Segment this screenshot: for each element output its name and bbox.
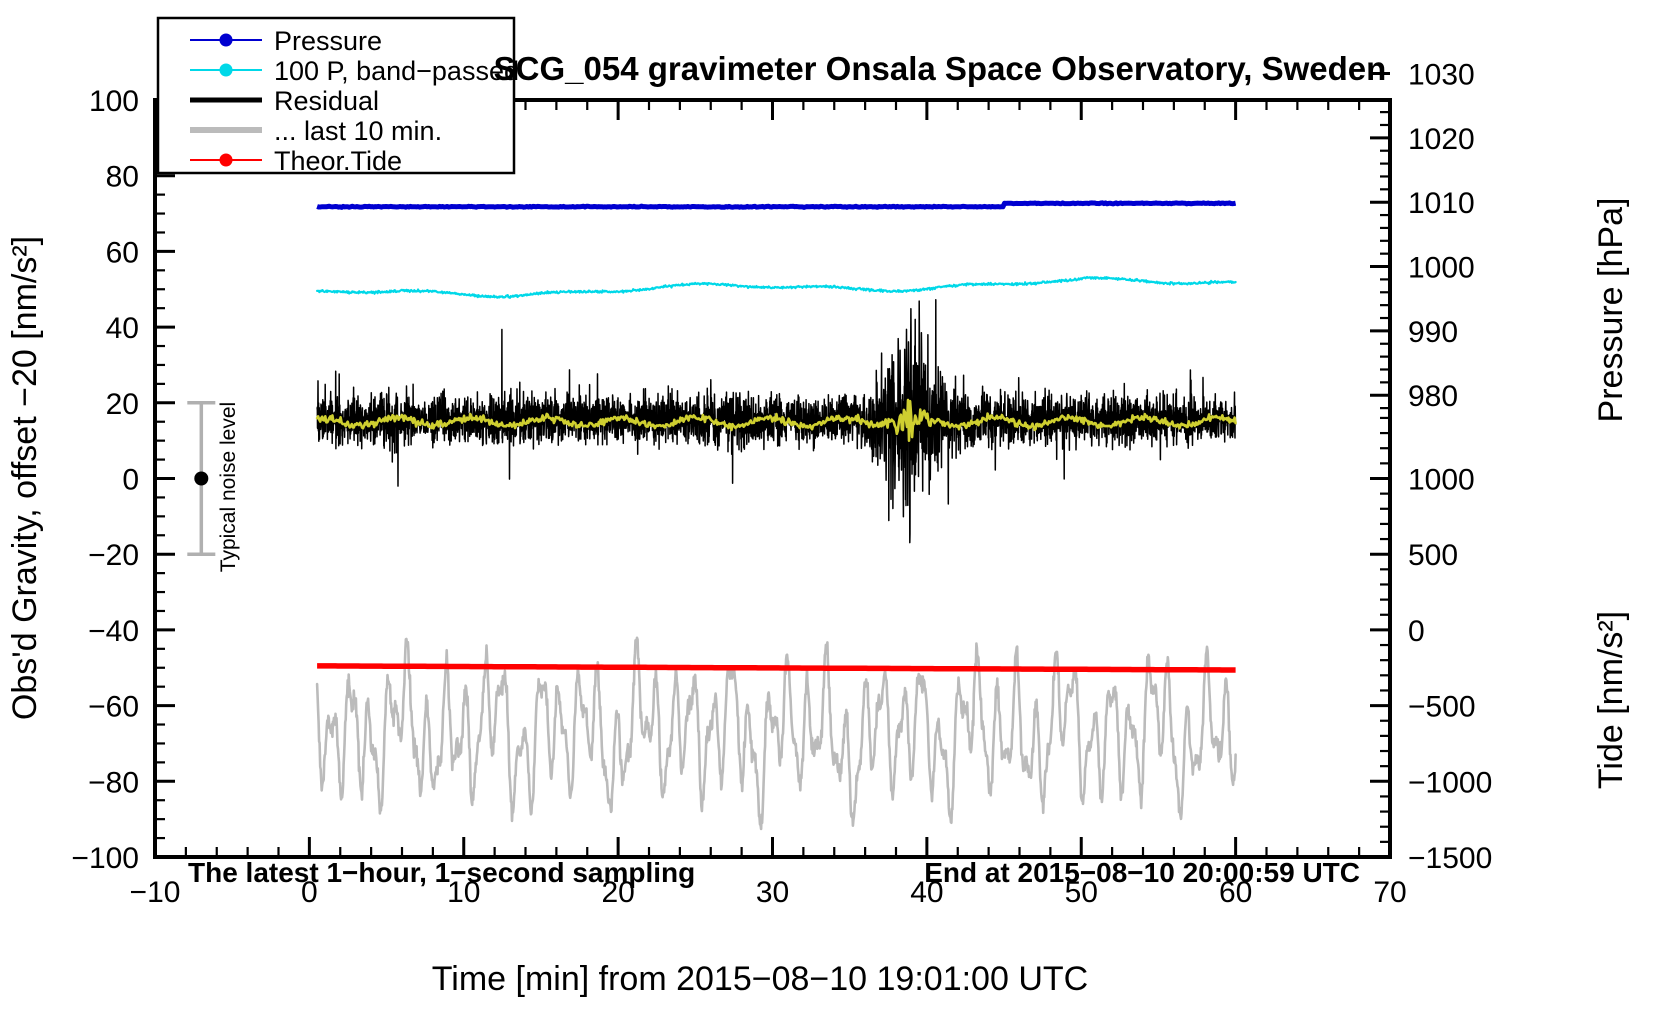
y-tick-label: 100	[89, 85, 139, 118]
pressure-tick-label: 1010	[1408, 187, 1475, 220]
legend-label-4: Theor.Tide	[274, 146, 402, 176]
y-tick-label: 20	[106, 388, 139, 421]
legend-label-3: ... last 10 min.	[274, 116, 442, 146]
x-tick-label: −10	[130, 876, 181, 909]
legend-marker-0	[220, 34, 233, 47]
page-title: SCG_054 gravimeter Onsala Space Observat…	[494, 50, 1387, 87]
legend-label-0: Pressure	[274, 26, 382, 56]
noise-level-label: Typical noise level	[217, 402, 240, 572]
tide-tick-label: 500	[1408, 539, 1458, 572]
legend-marker-1	[220, 64, 233, 77]
tide-axis-title: Tide [nm/s²]	[1592, 611, 1630, 789]
chart-canvas: −10010203040506070−100−80−60−40−20020406…	[0, 0, 1660, 1020]
pressure-tick-label: 990	[1408, 316, 1458, 349]
y-tick-label: −100	[71, 842, 139, 875]
tide-tick-label: −500	[1408, 691, 1476, 724]
gravimeter-plot-page: −10010203040506070−100−80−60−40−20020406…	[0, 0, 1660, 1020]
noise-bar-center-dot	[194, 472, 208, 486]
y-tick-label: −40	[88, 615, 139, 648]
y-tick-label: 40	[106, 312, 139, 345]
tide-tick-label: 0	[1408, 615, 1425, 648]
legend-label-2: Residual	[274, 86, 379, 116]
pressure-axis-title: Pressure [hPa]	[1592, 198, 1630, 423]
x-axis-title: Time [min] from 2015−08−10 19:01:00 UTC	[432, 960, 1088, 998]
y-axis-title: Obs'd Gravity, offset −20 [nm/s²]	[6, 236, 44, 720]
legend-label-1: 100 P, band−passed	[274, 56, 519, 86]
tide-tick-label: −1500	[1408, 842, 1492, 875]
pressure-tick-label: 1000	[1408, 252, 1475, 285]
y-tick-label: −80	[88, 766, 139, 799]
pressure-tick-label: 1020	[1408, 123, 1475, 156]
tide-tick-label: −1000	[1408, 766, 1492, 799]
annotation-end-time: End at 2015−08−10 20:00:59 UTC	[924, 857, 1360, 888]
x-tick-label: 70	[1373, 876, 1406, 909]
y-tick-label: −20	[88, 539, 139, 572]
legend-marker-4	[220, 154, 233, 167]
x-tick-label: 30	[756, 876, 789, 909]
y-tick-label: 60	[106, 236, 139, 269]
tide-tick-label: 1000	[1408, 464, 1475, 497]
y-tick-label: 0	[122, 464, 139, 497]
y-tick-label: −60	[88, 691, 139, 724]
annotation-sampling: The latest 1−hour, 1−second sampling	[188, 857, 695, 888]
pressure-tick-label: 1030	[1408, 59, 1475, 92]
pressure-tick-label: 980	[1408, 380, 1458, 413]
y-tick-label: 80	[106, 161, 139, 194]
